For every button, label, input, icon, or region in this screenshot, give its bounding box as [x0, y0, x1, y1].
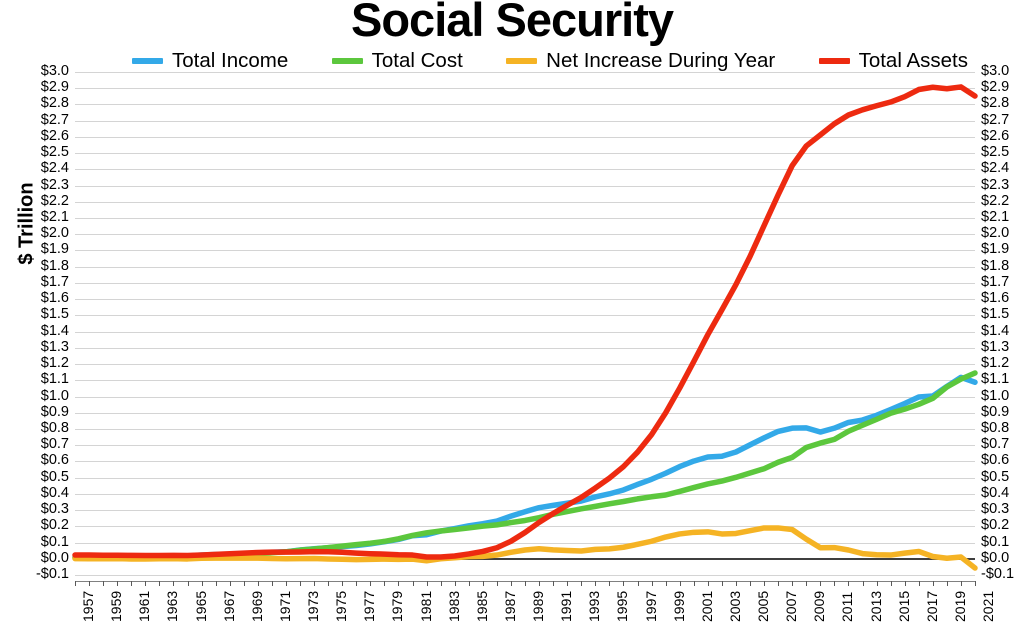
y-axis-tick-label: -$0.1	[981, 567, 1024, 581]
x-axis-tick-mark	[469, 581, 470, 586]
y-axis-tick-label: $1.6	[5, 291, 69, 305]
x-axis-tick-label: 1967	[222, 591, 236, 622]
y-axis-tick-label: $3.0	[5, 64, 69, 78]
series-lines	[75, 72, 975, 575]
social-security-chart: Social Security Total IncomeTotal CostNe…	[0, 0, 1024, 617]
legend-color-swatch-icon	[819, 58, 850, 64]
x-axis-tick-mark	[834, 581, 835, 586]
x-axis-tick-mark	[764, 581, 765, 586]
x-axis-tick-label: 1985	[475, 591, 489, 622]
x-axis-tick-mark	[806, 581, 807, 586]
x-axis-tick-mark	[792, 581, 793, 586]
x-axis-tick-label: 2021	[981, 591, 995, 622]
y-axis-tick-label: $2.7	[981, 113, 1024, 127]
y-axis-tick-label: $0.4	[5, 486, 69, 500]
y-axis-tick-label: $1.0	[5, 389, 69, 403]
x-axis-tick-mark	[413, 581, 414, 586]
legend-color-swatch-icon	[132, 58, 163, 64]
x-axis-tick-label: 1963	[165, 591, 179, 622]
y-axis-tick-label: $2.0	[981, 226, 1024, 240]
x-axis-tick-label: 2003	[728, 591, 742, 622]
x-axis-tick-mark	[652, 581, 653, 586]
y-axis-tick-label: $0.6	[5, 453, 69, 467]
y-axis-tick-label: $0.0	[5, 551, 69, 565]
y-axis-tick-label: $2.5	[5, 145, 69, 159]
x-axis-tick-label: 1991	[559, 591, 573, 622]
x-axis-tick-mark	[820, 581, 821, 586]
legend-color-swatch-icon	[332, 58, 363, 64]
x-axis-tick-mark	[328, 581, 329, 586]
y-axis-tick-label: $1.8	[981, 259, 1024, 273]
y-axis-tick-label: $1.8	[5, 259, 69, 273]
x-axis-tick-mark	[863, 581, 864, 586]
y-axis-tick-label: $0.8	[5, 421, 69, 435]
x-axis-tick-label: 1961	[137, 591, 151, 622]
y-axis-tick-label: $0.2	[5, 518, 69, 532]
x-axis-tick-mark	[680, 581, 681, 586]
x-axis-tick-mark	[666, 581, 667, 586]
x-axis-tick-label: 1979	[390, 591, 404, 622]
legend-item-label: Total Income	[172, 49, 288, 73]
x-axis-tick-mark	[891, 581, 892, 586]
x-axis-tick-mark	[525, 581, 526, 586]
x-axis-tick-mark	[117, 581, 118, 586]
y-axis-tick-label: $1.1	[5, 372, 69, 386]
x-axis-tick-label: 1983	[447, 591, 461, 622]
x-axis-tick-mark	[356, 581, 357, 586]
y-axis-tick-label: $1.3	[981, 340, 1024, 354]
page-title: Social Security	[0, 0, 1024, 46]
x-axis-tick-mark	[173, 581, 174, 586]
x-axis-tick-label: 1993	[587, 591, 601, 622]
y-axis-tick-label: $2.7	[5, 113, 69, 127]
x-axis-tick-mark	[567, 581, 568, 586]
y-axis-tick-label: $0.9	[981, 405, 1024, 419]
x-axis-tick-mark	[778, 581, 779, 586]
legend-color-swatch-icon	[506, 58, 537, 64]
chart-legend: Total IncomeTotal CostNet Increase Durin…	[120, 48, 980, 74]
x-axis-tick-label: 2005	[756, 591, 770, 622]
x-axis-tick-mark	[848, 581, 849, 586]
y-axis-tick-label: $0.9	[5, 405, 69, 419]
x-axis-tick-mark	[216, 581, 217, 586]
x-axis-tick-mark	[286, 581, 287, 586]
y-axis-tick-label: $1.7	[5, 275, 69, 289]
legend-item-label: Total Cost	[372, 49, 463, 73]
x-axis-tick-label: 2007	[784, 591, 798, 622]
x-axis-tick-mark	[736, 581, 737, 586]
legend-item-label: Total Assets	[859, 49, 968, 73]
x-axis-tick-mark	[103, 581, 104, 586]
y-axis-tick-label: $1.2	[5, 356, 69, 370]
x-axis-tick-mark	[595, 581, 596, 586]
x-axis-tick-label: 1987	[503, 591, 517, 622]
y-axis-tick-label: $1.0	[981, 389, 1024, 403]
x-axis-tick-mark	[131, 581, 132, 586]
y-axis-tick-label: $0.1	[981, 535, 1024, 549]
y-axis-tick-label: $1.4	[981, 324, 1024, 338]
y-axis-tick-label: $2.4	[5, 161, 69, 175]
y-axis-tick-label: $0.3	[5, 502, 69, 516]
x-axis-tick-mark	[455, 581, 456, 586]
y-axis-tick-label: $2.2	[5, 194, 69, 208]
y-axis-tick-label: $2.9	[981, 80, 1024, 94]
x-axis-tick-mark	[919, 581, 920, 586]
y-axis-tick-label: $1.9	[981, 242, 1024, 256]
x-axis-tick-label: 1989	[531, 591, 545, 622]
y-axis-tick-label: $1.6	[981, 291, 1024, 305]
y-axis-tick-label: $0.8	[981, 421, 1024, 435]
gridline	[75, 575, 975, 576]
x-axis-tick-label: 2017	[925, 591, 939, 622]
y-axis-tick-label: $1.1	[981, 372, 1024, 386]
y-axis-tick-label: $1.5	[981, 307, 1024, 321]
x-axis-tick-mark	[272, 581, 273, 586]
x-axis-tick-mark	[497, 581, 498, 586]
y-axis-tick-label: $1.2	[981, 356, 1024, 370]
x-axis-tick-mark	[314, 581, 315, 586]
x-axis-tick-mark	[609, 581, 610, 586]
x-axis-tick-mark	[511, 581, 512, 586]
y-axis-tick-label: $2.6	[981, 129, 1024, 143]
x-axis-tick-mark	[188, 581, 189, 586]
x-axis-tick-label: 1959	[109, 591, 123, 622]
legend-item[interactable]: Total Income	[132, 49, 288, 73]
x-axis-tick-mark	[258, 581, 259, 586]
x-axis-tick-label: 1995	[615, 591, 629, 622]
x-axis-tick-mark	[877, 581, 878, 586]
x-axis-tick-mark	[384, 581, 385, 586]
x-axis-tick-mark	[300, 581, 301, 586]
x-axis-tick-mark	[230, 581, 231, 586]
x-axis-tick-mark	[623, 581, 624, 586]
y-axis-tick-label: $2.1	[5, 210, 69, 224]
x-axis-tick-label: 1969	[250, 591, 264, 622]
x-axis-tick-mark	[202, 581, 203, 586]
y-axis-tick-label: $0.5	[981, 470, 1024, 484]
x-axis-tick-mark	[441, 581, 442, 586]
y-axis-tick-label: $0.4	[981, 486, 1024, 500]
y-axis-tick-label: $2.3	[981, 178, 1024, 192]
x-axis-tick-label: 1999	[672, 591, 686, 622]
x-axis-tick-label: 1965	[194, 591, 208, 622]
x-axis-tick-mark	[933, 581, 934, 586]
y-axis-tick-label: $2.8	[5, 96, 69, 110]
legend-item-label: Net Increase During Year	[546, 49, 775, 73]
y-axis-tick-label: $1.9	[5, 242, 69, 256]
y-axis-tick-label: $2.3	[5, 178, 69, 192]
y-axis-tick-label: -$0.1	[5, 567, 69, 581]
x-axis-tick-mark	[75, 581, 76, 586]
x-axis-labels: 1957195919611963196519671969197119731975…	[75, 590, 975, 620]
x-axis-tick-mark	[961, 581, 962, 586]
y-axis-tick-label: $0.6	[981, 453, 1024, 467]
x-axis-tick-label: 1975	[334, 591, 348, 622]
y-axis-tick-label: $2.1	[981, 210, 1024, 224]
x-axis-tick-mark	[581, 581, 582, 586]
x-axis-tick-mark	[750, 581, 751, 586]
y-axis-tick-label: $0.0	[981, 551, 1024, 565]
x-axis-tick-mark	[398, 581, 399, 586]
x-axis-tick-label: 1997	[644, 591, 658, 622]
x-axis-tick-label: 1977	[362, 591, 376, 622]
x-axis-tick-mark	[159, 581, 160, 586]
y-axis-tick-label: $0.3	[981, 502, 1024, 516]
x-axis-tick-label: 2019	[953, 591, 967, 622]
x-axis-tick-mark	[905, 581, 906, 586]
y-axis-tick-label: $3.0	[981, 64, 1024, 78]
x-axis-tick-mark	[89, 581, 90, 586]
y-axis-tick-label: $2.5	[981, 145, 1024, 159]
x-axis-tick-mark	[342, 581, 343, 586]
x-axis-tick-label: 2013	[869, 591, 883, 622]
plot-area	[75, 72, 975, 575]
y-axis-tick-label: $1.3	[5, 340, 69, 354]
x-axis-tick-mark	[427, 581, 428, 586]
x-axis-tick-mark	[694, 581, 695, 586]
x-axis-tick-label: 1973	[306, 591, 320, 622]
x-axis-tick-mark	[638, 581, 639, 586]
y-axis-tick-label: $0.7	[5, 437, 69, 451]
y-axis-tick-label: $0.7	[981, 437, 1024, 451]
legend-item[interactable]: Net Increase During Year	[506, 49, 775, 73]
y-axis-tick-label: $0.2	[981, 518, 1024, 532]
x-axis-tick-label: 1971	[278, 591, 292, 622]
x-axis-tick-label: 2015	[897, 591, 911, 622]
x-axis-tick-label: 2001	[700, 591, 714, 622]
x-axis-tick-mark	[553, 581, 554, 586]
x-axis-tick-mark	[244, 581, 245, 586]
x-axis-tick-label: 2011	[840, 592, 854, 622]
x-axis-tick-label: 1957	[81, 591, 95, 622]
y-axis-tick-label: $0.1	[5, 535, 69, 549]
x-axis-tick-mark	[370, 581, 371, 586]
x-axis-tick-mark	[145, 581, 146, 586]
x-axis-ticks	[75, 581, 975, 587]
y-axis-tick-label: $1.5	[5, 307, 69, 321]
y-axis-tick-label: $2.9	[5, 80, 69, 94]
series-line	[75, 87, 975, 557]
legend-item[interactable]: Total Cost	[332, 49, 463, 73]
x-axis-tick-mark	[483, 581, 484, 586]
y-axis-tick-label: $2.0	[5, 226, 69, 240]
y-axis-tick-label: $1.4	[5, 324, 69, 338]
legend-item[interactable]: Total Assets	[819, 49, 968, 73]
x-axis-tick-mark	[975, 581, 976, 586]
x-axis-tick-mark	[947, 581, 948, 586]
y-axis-tick-label: $1.7	[981, 275, 1024, 289]
y-axis-tick-label: $2.2	[981, 194, 1024, 208]
y-axis-tick-label: $2.4	[981, 161, 1024, 175]
x-axis-tick-mark	[722, 581, 723, 586]
x-axis-tick-mark	[708, 581, 709, 586]
x-axis-tick-mark	[539, 581, 540, 586]
y-axis-tick-label: $0.5	[5, 470, 69, 484]
y-axis-tick-label: $2.6	[5, 129, 69, 143]
y-axis-tick-label: $2.8	[981, 96, 1024, 110]
x-axis-tick-label: 1981	[419, 591, 433, 622]
x-axis-tick-label: 2009	[812, 591, 826, 622]
